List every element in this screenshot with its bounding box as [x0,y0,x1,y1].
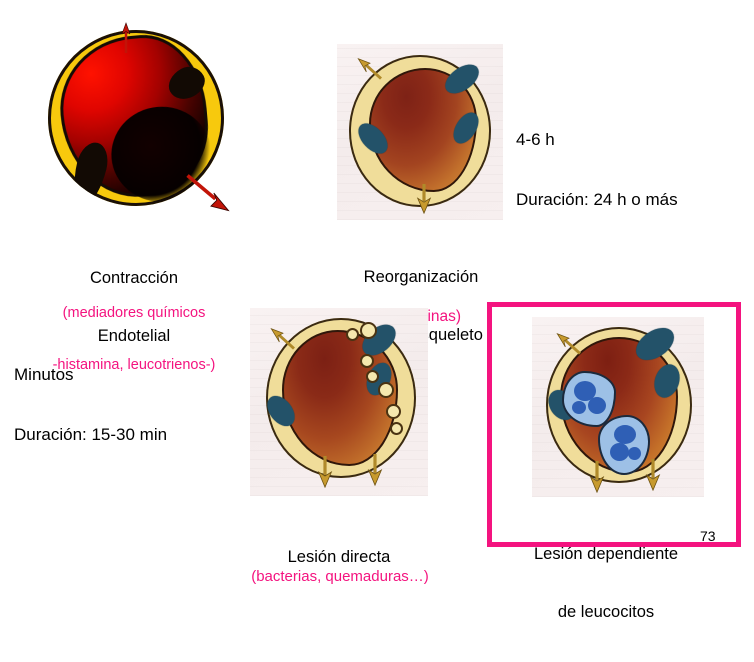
endothelial-gap-vesicle [378,382,394,398]
highlight-box-leukocyte-injury: Lesión dependiente de leucocitos [487,302,741,547]
endothelial-gap-vesicle [386,404,401,419]
leukocyte-nucleus-lobe [628,447,641,460]
timing-line: Minutos [14,365,167,385]
caption-line: (mediadores químicos [16,305,252,322]
figure-leukocyte-dependent-injury [532,317,704,497]
leak-arrow-down-icon [588,461,606,493]
leak-arrow-down-icon [366,454,384,486]
leak-arrow-down-icon [415,184,433,214]
timing-line: Duración: 15-30 min [14,425,167,445]
leukocyte-nucleus-lobe [614,425,636,444]
leak-arrow-down-icon [644,459,662,491]
figure-cytoskeleton-reorganization [337,44,503,220]
figure-endothelial-contraction [36,14,232,220]
caption-line: Lesión dependiente [498,545,714,564]
timing-line: 4-6 h [516,130,678,150]
timing-line: Duración: 24 h o más [516,190,678,210]
endothelial-gap-vesicle [346,328,359,341]
figure-direct-injury [250,308,428,496]
leukocyte-nucleus-lobe [572,401,586,414]
leak-arrow-up-icon [122,16,130,60]
endothelial-gap-vesicle [390,422,403,435]
leak-arrow-up-left-icon [270,328,296,350]
timing-cytoskeleton: 4-6 h Duración: 24 h o más [516,90,678,250]
caption-direct-injury-causes: (bacterias, quemaduras…) [244,533,436,621]
caption-line: de leucocitos [498,603,714,622]
caption-line: (bacterias, quemaduras…) [244,568,436,586]
endothelial-gap-vesicle [360,322,377,339]
leak-arrow-up-left-icon [357,58,383,80]
leak-arrow-up-left-icon [556,333,582,355]
leukocyte-nucleus-lobe [610,443,629,461]
leak-arrow-down-right-icon [186,174,230,212]
timing-endothelial-contraction: Minutos Duración: 15-30 min [14,325,167,485]
caption-leukocyte-dependent-injury: Lesión dependiente de leucocitos [498,506,714,662]
page-number: 73 [700,528,716,545]
endothelial-gap-vesicle [366,370,379,383]
leak-arrow-down-icon [316,456,334,488]
slide-canvas: Contracción Endotelial (mediadores quími… [0,0,754,567]
endothelial-gap-vesicle [360,354,374,368]
leukocyte-nucleus-lobe [588,397,606,414]
